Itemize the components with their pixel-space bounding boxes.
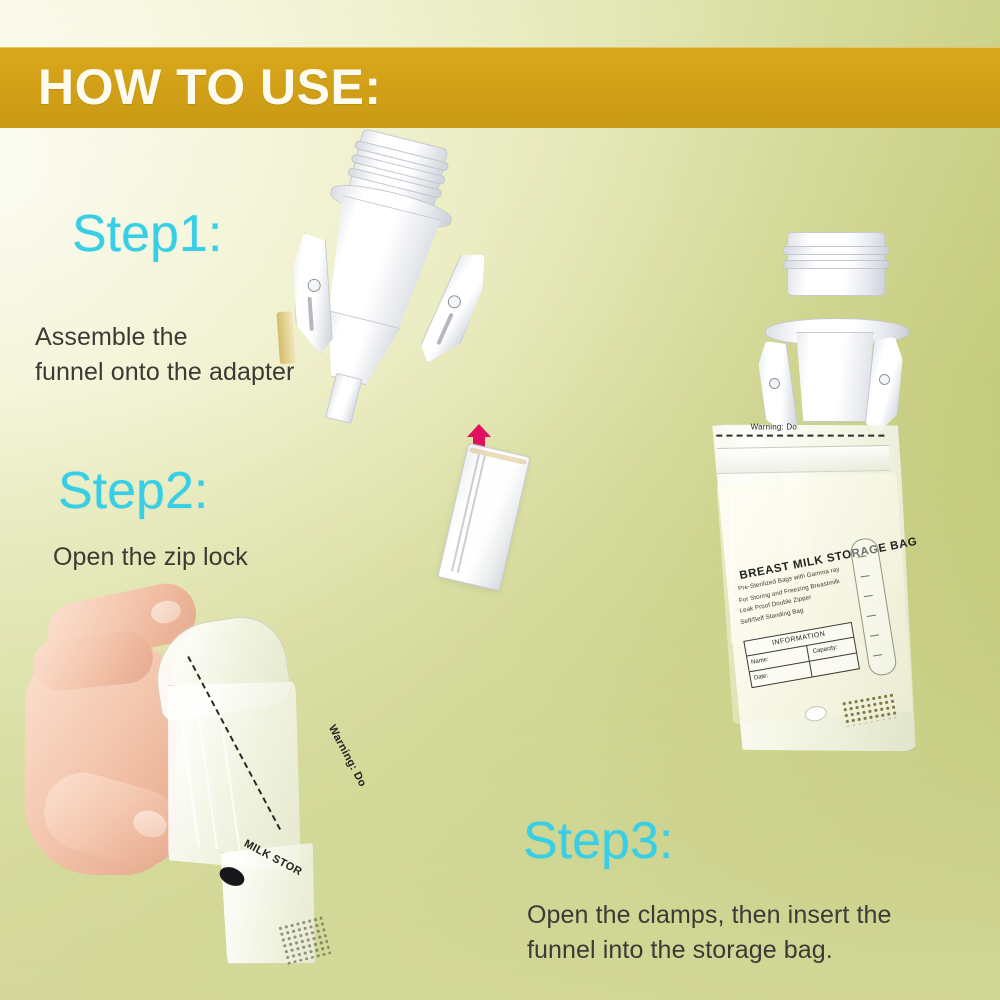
zipper-track [457,455,485,572]
page-title: HOW TO USE: [38,52,381,122]
step-3-heading: Step3: [523,812,673,870]
scale-tick [864,595,873,597]
step-1-description: Assemble the funnel onto the adapter [35,320,294,390]
neck-thread-ring [783,246,889,255]
bag-crease [730,494,733,644]
held-bag-warning-text: Warning: Do [326,723,369,789]
scale-tick [861,575,870,577]
adapter-body [791,332,879,422]
infographic-canvas: HOW TO USE: Step1: Assemble the funnel o… [0,0,1000,1000]
opened-storage-bag-illustration: Warning: Do MILK STOR [135,620,375,970]
scale-tick [870,634,879,636]
scale-tick [867,615,876,617]
scale-tick [873,654,882,656]
clamp-arm-right [415,246,498,372]
clamp-edge-highlight-left [276,311,296,364]
bag-tear-line [716,435,884,437]
clamp-pivot-right [879,374,890,385]
neck-thread-ring [783,260,889,269]
breast-milk-storage-bag-illustration: Warning: Do BREAST MILK STORAGE BAG Pre-… [706,412,921,765]
step-2-heading: Step2: [58,462,208,520]
bag-zipper-band [717,445,889,474]
step-3-description: Open the clamps, then insert the funnel … [527,898,892,968]
clamp-pivot-left [769,378,780,389]
scale-tick [857,555,866,557]
step-1-heading: Step1: [72,205,222,263]
step-2-description: Open the zip lock [53,540,248,575]
bag-warning-text: Warning: Do [751,422,797,431]
funnel-spout [325,373,362,424]
